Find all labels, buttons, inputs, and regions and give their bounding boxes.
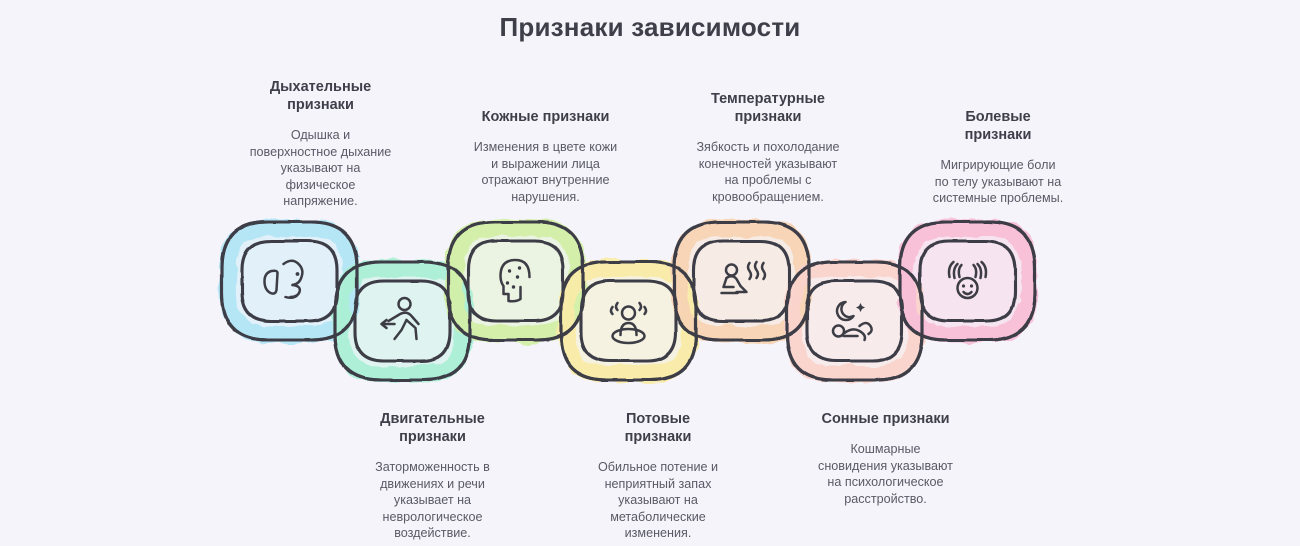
chain-graphic xyxy=(0,200,1300,410)
chain-link-temperature xyxy=(674,222,809,340)
caption-title-sweat: Потовыепризнаки xyxy=(558,410,758,446)
caption-body-motor: Заторможенность в движениях и речи указы… xyxy=(330,459,535,542)
caption-title-sleep: Сонные признаки xyxy=(783,410,988,428)
caption-body-sweat: Обильное потение и неприятный запах указ… xyxy=(558,459,758,542)
caption-breathing: Дыхательныепризнаки Одышка и поверхностн… xyxy=(218,78,423,210)
caption-sweat: Потовыепризнаки Обильное потение и непри… xyxy=(558,410,758,542)
caption-title-temperature: Температурныепризнаки xyxy=(663,90,873,126)
chain-link-skin xyxy=(448,222,583,340)
caption-pain: Болевыепризнаки Мигрирующие боли по телу… xyxy=(898,108,1098,207)
page-title: Признаки зависимости xyxy=(0,12,1300,43)
caption-title-pain: Болевыепризнаки xyxy=(898,108,1098,144)
caption-body-breathing: Одышка и поверхностное дыхание указывают… xyxy=(218,127,423,210)
caption-body-sleep: Кошмарные сновидения указывают на психол… xyxy=(783,441,988,507)
caption-body-temperature: Зябкость и похолодание конечностей указы… xyxy=(663,139,873,205)
chain-link-pain xyxy=(900,222,1035,340)
chain-link-breathing xyxy=(222,222,357,340)
infographic-root: Признаки зависимости Дыхательныепризнаки… xyxy=(0,0,1300,546)
caption-title-motor: Двигательныепризнаки xyxy=(330,410,535,446)
caption-body-skin: Изменения в цвете кожи и выражении лица … xyxy=(443,139,648,205)
caption-sleep: Сонные признаки Кошмарные сновидения ука… xyxy=(783,410,988,507)
caption-title-breathing: Дыхательныепризнаки xyxy=(218,78,423,114)
caption-motor: Двигательныепризнаки Заторможенность в д… xyxy=(330,410,535,542)
caption-temperature: Температурныепризнаки Зябкость и похолод… xyxy=(663,90,873,205)
caption-skin: Кожные признаки Изменения в цвете кожи и… xyxy=(443,108,648,205)
caption-title-skin: Кожные признаки xyxy=(443,108,648,126)
